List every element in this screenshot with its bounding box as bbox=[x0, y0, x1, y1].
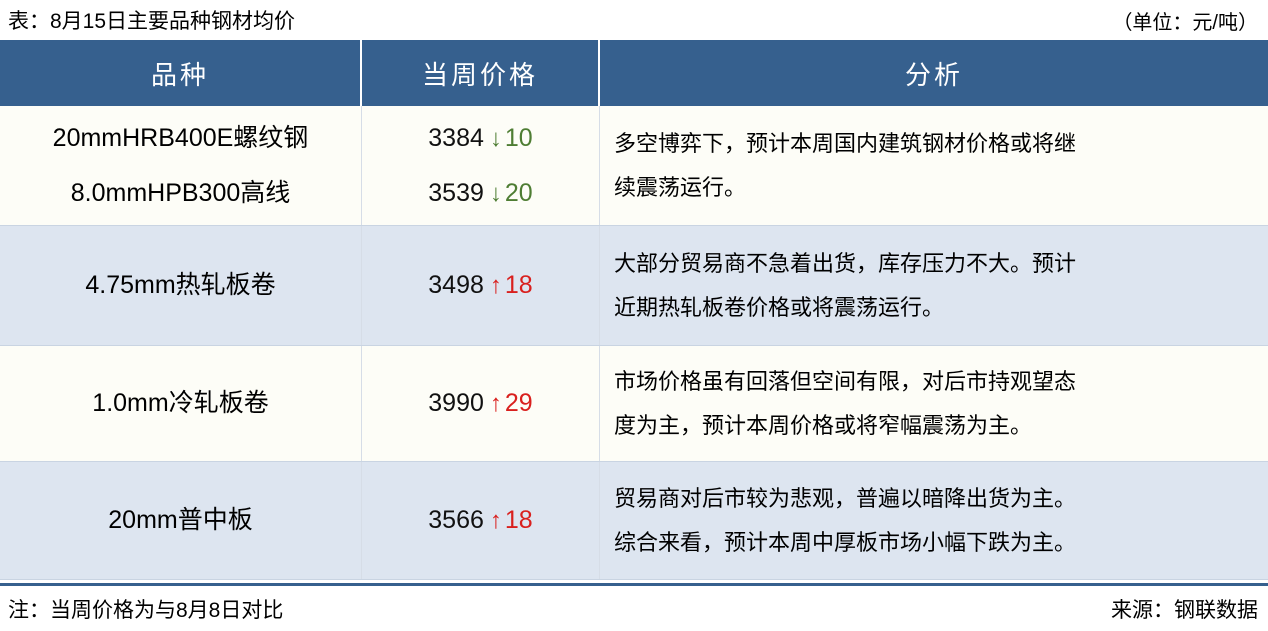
cell-price: 3384 ↓ 10 3539 ↓ 20 bbox=[362, 106, 600, 225]
unit-label: （单位：元/吨） bbox=[1112, 6, 1258, 35]
footer-row: 注：当周价格为与8月8日对比 来源：钢联数据 bbox=[0, 586, 1268, 631]
price-entry: 3539 ↓ 20 bbox=[428, 181, 532, 206]
column-header-variety: 品种 bbox=[0, 40, 362, 106]
cell-price: 3498 ↑ 18 bbox=[362, 226, 600, 345]
footer-note: 注：当周价格为与8月8日对比 bbox=[8, 594, 283, 624]
price-value: 3566 bbox=[428, 508, 484, 533]
analysis-text-line: 综合来看，预计本周中厚板市场小幅下跌为主。 bbox=[614, 532, 1076, 554]
price-delta: 29 bbox=[505, 391, 533, 416]
price-value: 3990 bbox=[428, 391, 484, 416]
variety-label: 20mmHRB400E螺纹钢 bbox=[53, 126, 309, 151]
cell-variety: 20mm普中板 bbox=[0, 462, 362, 579]
price-value: 3498 bbox=[428, 273, 484, 298]
cell-analysis: 贸易商对后市较为悲观，普遍以暗降出货为主。 综合来看，预计本周中厚板市场小幅下跌… bbox=[600, 462, 1268, 579]
price-delta: 10 bbox=[505, 126, 533, 151]
price-entry: 3498 ↑ 18 bbox=[428, 273, 532, 298]
analysis-text-line: 多空博弈下，预计本周国内建筑钢材价格或将继 bbox=[614, 133, 1076, 155]
price-delta: 18 bbox=[505, 508, 533, 533]
steel-price-table-page: 表：8月15日主要品种钢材均价 （单位：元/吨） 品种 当周价格 分析 20mm… bbox=[0, 0, 1268, 631]
analysis-text-line: 续震荡运行。 bbox=[614, 177, 746, 199]
arrow-up-icon: ↑ bbox=[490, 392, 502, 416]
table-header-row: 品种 当周价格 分析 bbox=[0, 40, 1268, 106]
table-body: 20mmHRB400E螺纹钢 8.0mmHPB300高线 3384 ↓ 10 3… bbox=[0, 106, 1268, 580]
price-value: 3384 bbox=[428, 126, 484, 151]
analysis-text-line: 贸易商对后市较为悲观，普遍以暗降出货为主。 bbox=[614, 488, 1076, 510]
variety-label: 1.0mm冷轧板卷 bbox=[92, 391, 268, 416]
cell-variety: 1.0mm冷轧板卷 bbox=[0, 346, 362, 461]
cell-analysis: 大部分贸易商不急着出货，库存压力不大。预计 近期热轧板卷价格或将震荡运行。 bbox=[600, 226, 1268, 345]
price-table: 品种 当周价格 分析 20mmHRB400E螺纹钢 8.0mmHPB300高线 … bbox=[0, 40, 1268, 586]
variety-label: 8.0mmHPB300高线 bbox=[71, 181, 291, 206]
cell-analysis: 市场价格虽有回落但空间有限，对后市持观望态 度为主，预计本周价格或将窄幅震荡为主… bbox=[600, 346, 1268, 461]
price-entry: 3990 ↑ 29 bbox=[428, 391, 532, 416]
analysis-text-line: 市场价格虽有回落但空间有限，对后市持观望态 bbox=[614, 371, 1076, 393]
price-delta: 18 bbox=[505, 273, 533, 298]
variety-label: 4.75mm热轧板卷 bbox=[85, 273, 275, 298]
price-entry: 3566 ↑ 18 bbox=[428, 508, 532, 533]
footer-source: 来源：钢联数据 bbox=[1111, 594, 1258, 624]
analysis-text-line: 大部分贸易商不急着出货，库存压力不大。预计 bbox=[614, 253, 1076, 275]
cell-variety: 4.75mm热轧板卷 bbox=[0, 226, 362, 345]
cell-price: 3566 ↑ 18 bbox=[362, 462, 600, 579]
analysis-text-line: 度为主，预计本周价格或将窄幅震荡为主。 bbox=[614, 415, 1032, 437]
price-value: 3539 bbox=[428, 181, 484, 206]
page-title: 表：8月15日主要品种钢材均价 bbox=[8, 5, 295, 35]
arrow-down-icon: ↓ bbox=[490, 127, 502, 151]
column-header-analysis: 分析 bbox=[600, 40, 1268, 106]
caption-row: 表：8月15日主要品种钢材均价 （单位：元/吨） bbox=[0, 0, 1268, 40]
analysis-text-line: 近期热轧板卷价格或将震荡运行。 bbox=[614, 297, 944, 319]
arrow-down-icon: ↓ bbox=[490, 182, 502, 206]
cell-price: 3990 ↑ 29 bbox=[362, 346, 600, 461]
arrow-up-icon: ↑ bbox=[490, 509, 502, 533]
table-row: 1.0mm冷轧板卷 3990 ↑ 29 市场价格虽有回落但空间有限，对后市持观望… bbox=[0, 346, 1268, 462]
price-entry: 3384 ↓ 10 bbox=[428, 126, 532, 151]
variety-label: 20mm普中板 bbox=[108, 508, 252, 533]
column-header-price: 当周价格 bbox=[362, 40, 600, 106]
cell-variety: 20mmHRB400E螺纹钢 8.0mmHPB300高线 bbox=[0, 106, 362, 225]
table-row: 20mmHRB400E螺纹钢 8.0mmHPB300高线 3384 ↓ 10 3… bbox=[0, 106, 1268, 226]
table-row: 20mm普中板 3566 ↑ 18 贸易商对后市较为悲观，普遍以暗降出货为主。 … bbox=[0, 462, 1268, 580]
arrow-up-icon: ↑ bbox=[490, 274, 502, 298]
price-delta: 20 bbox=[505, 181, 533, 206]
table-row: 4.75mm热轧板卷 3498 ↑ 18 大部分贸易商不急着出货，库存压力不大。… bbox=[0, 226, 1268, 346]
cell-analysis: 多空博弈下，预计本周国内建筑钢材价格或将继 续震荡运行。 bbox=[600, 106, 1268, 225]
